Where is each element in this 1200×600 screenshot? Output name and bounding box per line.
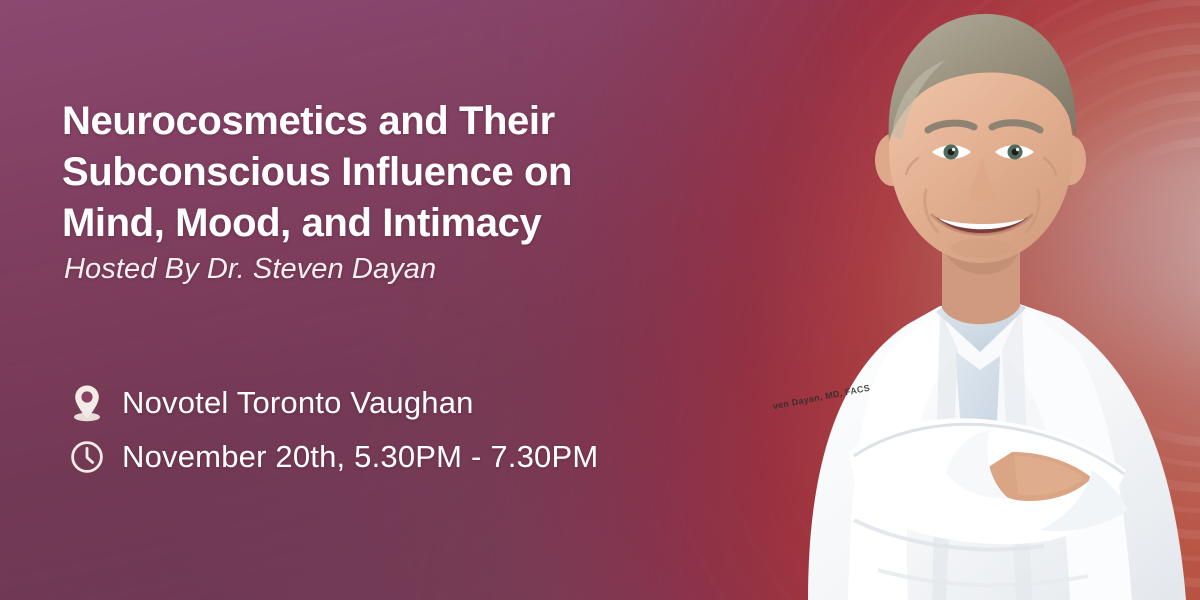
venue-text: Novotel Toronto Vaughan: [122, 384, 474, 422]
venue-row: Novotel Toronto Vaughan: [68, 382, 598, 424]
host-subtitle: Hosted By Dr. Steven Dayan: [64, 250, 436, 288]
banner-content: Neurocosmetics and Their Subconscious In…: [62, 0, 702, 600]
event-banner: ven Dayan, MD, FACS Neurocosmetics and T…: [0, 0, 1200, 600]
title-line-1: Neurocosmetics and Their: [62, 96, 682, 147]
event-details: Novotel Toronto Vaughan November 20th, 5…: [68, 382, 598, 478]
datetime-row: November 20th, 5.30PM - 7.30PM: [68, 436, 598, 478]
location-pin-icon: [68, 382, 106, 424]
title-line-3: Mind, Mood, and Intimacy: [62, 198, 682, 249]
clock-icon: [68, 436, 106, 478]
event-title: Neurocosmetics and Their Subconscious In…: [62, 96, 682, 249]
datetime-text: November 20th, 5.30PM - 7.30PM: [122, 438, 598, 476]
title-line-2: Subconscious Influence on: [62, 147, 682, 198]
